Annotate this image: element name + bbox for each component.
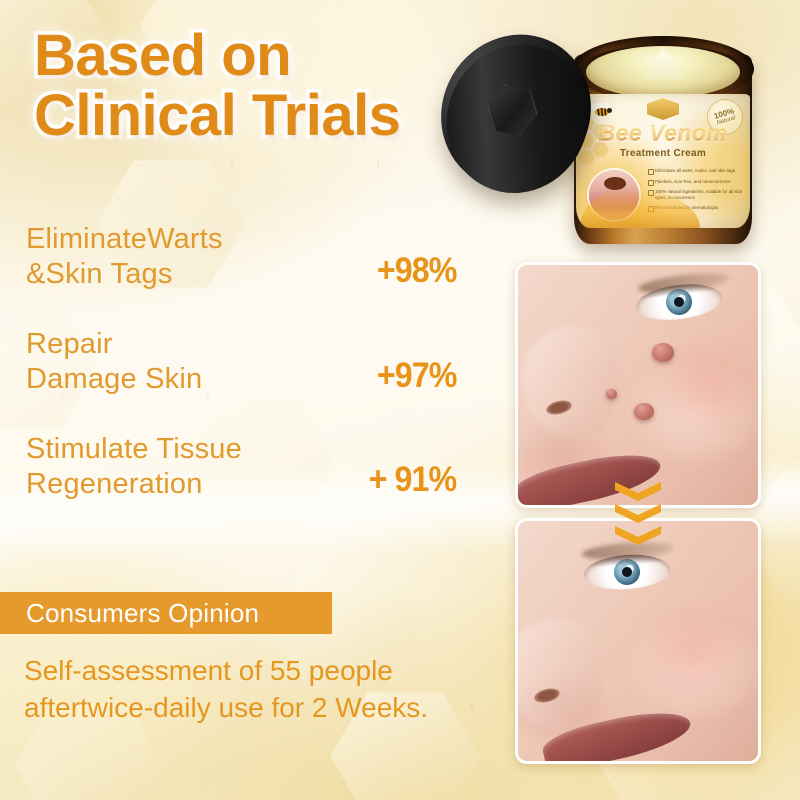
benefit-percentage: +98% bbox=[376, 251, 456, 293]
benefit-row-tissue-regeneration: Stimulate Tissue Regeneration + 91% bbox=[26, 432, 456, 503]
consumers-opinion-label: Consumers Opinion bbox=[0, 598, 259, 629]
product-brand-name: Bee Venom bbox=[576, 120, 750, 147]
chevron-down-icon bbox=[615, 504, 661, 523]
benefit-label: Repair Damage Skin bbox=[26, 327, 202, 398]
chevron-down-icon bbox=[615, 526, 661, 545]
consumers-opinion-body-text: Self-assessment of 55 people aftertwice-… bbox=[24, 652, 464, 726]
benefit-row-eliminate-warts: EliminateWarts &Skin Tags +98% bbox=[26, 222, 456, 293]
label-bullet: Eliminates all warts, moles, and skin ta… bbox=[648, 168, 744, 174]
label-bullet: Painless, scar-free, and nonrecurrence bbox=[648, 179, 744, 185]
jar-label: 100% Natural Bee Venom Treatment Cream E… bbox=[576, 94, 750, 228]
benefit-stats-list: EliminateWarts &Skin Tags +98% Repair Da… bbox=[26, 222, 456, 536]
benefit-percentage: + 91% bbox=[368, 460, 456, 502]
nose bbox=[515, 619, 602, 729]
nose bbox=[522, 327, 618, 437]
skin-tag-lesion bbox=[606, 389, 617, 399]
transition-arrows bbox=[612, 482, 664, 548]
product-jar: 100% Natural Bee Venom Treatment Cream E… bbox=[570, 20, 756, 245]
benefit-label: Stimulate Tissue Regeneration bbox=[26, 432, 242, 503]
after-photo bbox=[515, 518, 761, 764]
chevron-down-icon bbox=[615, 482, 661, 501]
benefit-label: EliminateWarts &Skin Tags bbox=[26, 222, 223, 293]
headline-line-1: Based on bbox=[34, 26, 504, 86]
headline-line-2: Clinical Trials bbox=[34, 86, 504, 146]
before-photo bbox=[515, 262, 761, 508]
skin-tag-lesion bbox=[634, 403, 654, 420]
promo-poster: Based on Clinical Trials EliminateWarts … bbox=[0, 0, 800, 800]
benefit-row-repair-damage-skin: Repair Damage Skin +97% bbox=[26, 327, 456, 398]
jar-cream-content bbox=[586, 46, 740, 98]
headline: Based on Clinical Trials bbox=[34, 26, 504, 145]
benefit-percentage: +97% bbox=[376, 356, 456, 398]
skin-tag-lesion bbox=[652, 343, 674, 362]
cheek bbox=[634, 603, 754, 699]
product-subtitle: Treatment Cream bbox=[576, 148, 750, 159]
consumers-opinion-banner: Consumers Opinion bbox=[0, 592, 332, 634]
label-crest-icon bbox=[647, 98, 679, 120]
bee-icon bbox=[588, 102, 614, 118]
